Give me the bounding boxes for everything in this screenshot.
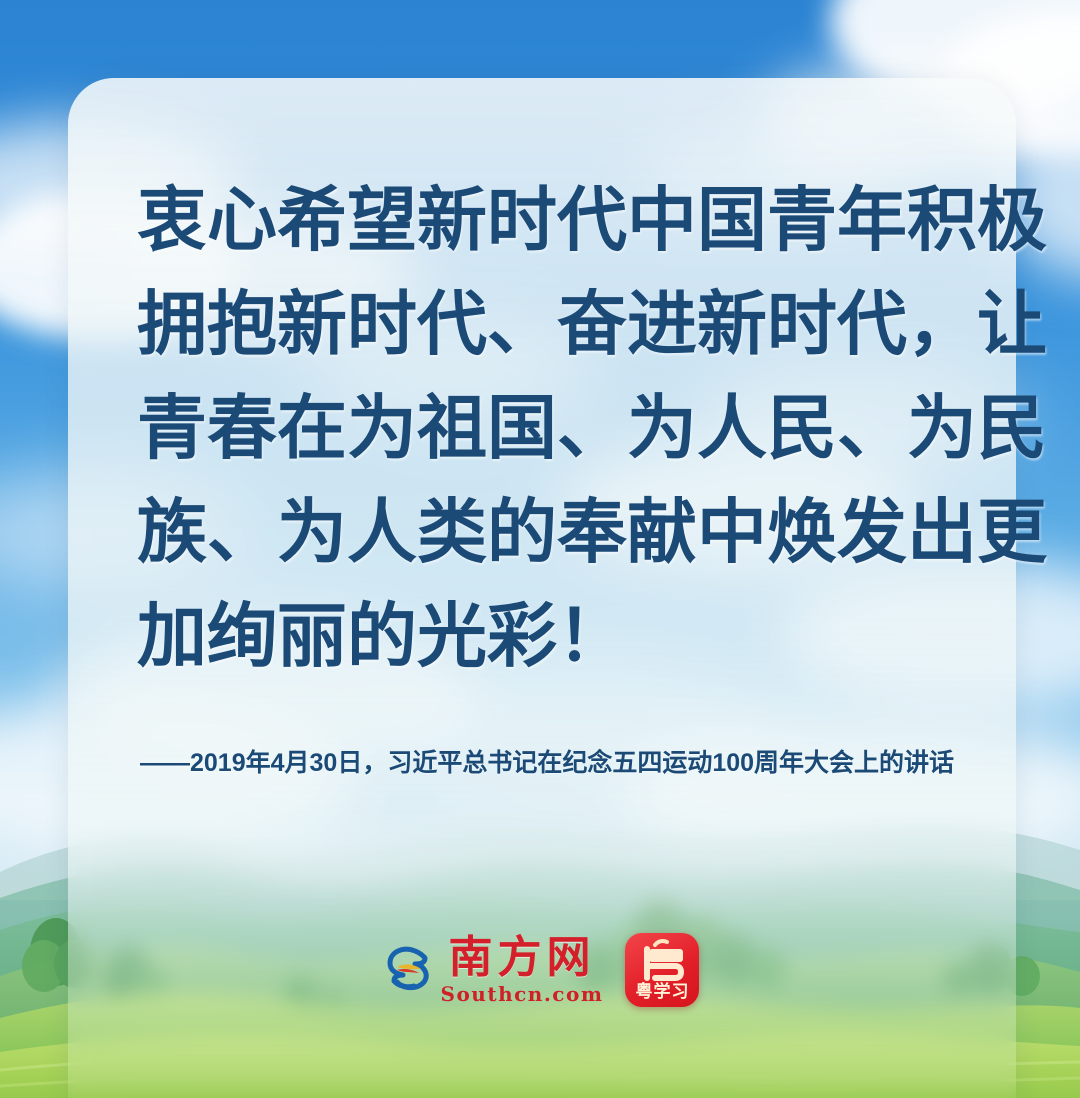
- yuexuexi-label: 粤学习: [625, 983, 699, 1000]
- poster-canvas: 衷心希望新时代中国青年积极 拥抱新时代、奋进新时代，让 青春在为祖国、为人民、为…: [0, 0, 1080, 1098]
- quote-line: 拥抱新时代、奋进新时代，让: [137, 272, 967, 376]
- southcn-s-icon: [381, 942, 433, 999]
- quote-line: 族、为人类的奉献中焕发出更: [137, 480, 967, 584]
- yuexuexi-book-icon: [625, 937, 699, 985]
- quote-attribution: ——2019年4月30日，习近平总书记在纪念五四运动100周年大会上的讲话: [140, 740, 960, 786]
- southcn-logo[interactable]: 南方网 Southcn.com: [381, 936, 604, 1004]
- quote-line: 青春在为祖国、为人民、为民: [137, 376, 967, 480]
- quote-line: 衷心希望新时代中国青年积极: [137, 168, 967, 272]
- southcn-chinese-name: 南方网: [449, 936, 596, 980]
- quote-line: 加绚丽的光彩！: [137, 584, 967, 688]
- southcn-domain: Southcn.com: [441, 984, 604, 1004]
- yuexuexi-app-logo[interactable]: 粤学习: [625, 933, 699, 1007]
- logo-row: 南方网 Southcn.com 粤学习: [0, 928, 1080, 1012]
- southcn-wordmark: 南方网 Southcn.com: [441, 936, 604, 1004]
- quote-text: 衷心希望新时代中国青年积极 拥抱新时代、奋进新时代，让 青春在为祖国、为人民、为…: [137, 168, 967, 688]
